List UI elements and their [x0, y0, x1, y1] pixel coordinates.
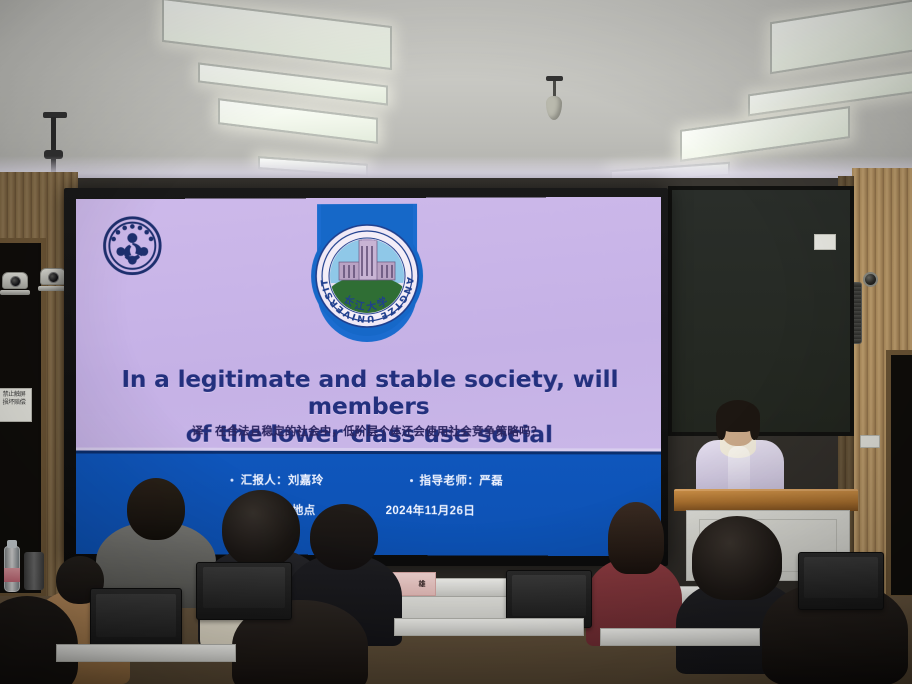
- blackboard: [668, 186, 854, 436]
- security-camera-icon: [2, 272, 30, 295]
- footer-advisor-item: 指导老师：严磊: [410, 472, 504, 488]
- footer-advisor: 指导老师：严磊: [420, 472, 504, 488]
- ceiling-light-panel: [680, 106, 850, 162]
- university-seal-icon: YANGTZE UNIVERSITY 长江大学: [287, 204, 447, 354]
- desk-row: [394, 618, 584, 636]
- slide-body: YANGTZE UNIVERSITY 长江大学 In a legi: [76, 197, 661, 452]
- ceiling-light-panel: [162, 0, 392, 70]
- motion-sensor-icon: [863, 272, 878, 287]
- blackboard-notice: [814, 234, 836, 250]
- desk-card-char2: 雄: [419, 579, 426, 589]
- wall-warning-sign: 禁止触屏 损坏赔偿: [0, 388, 32, 422]
- desktop-monitor: [798, 552, 884, 610]
- ceiling-light-panel: [218, 98, 378, 144]
- footer-presenter-item: 汇报人：刘嘉玲: [231, 472, 324, 488]
- mount-bracket: [44, 150, 63, 159]
- bottle-label: [4, 568, 20, 582]
- right-door-frame: [886, 350, 912, 600]
- slide-title-line1: In a legitimate and stable society, will…: [98, 366, 643, 421]
- thermos-cup: [24, 552, 44, 590]
- ceiling-light-panel: [770, 0, 912, 74]
- bullet-icon: [410, 479, 413, 482]
- ceiling: [0, 0, 912, 182]
- person-head: [310, 504, 378, 570]
- audience-person: [0, 596, 86, 684]
- lecture-hall-scene: 禁止触屏 损坏赔偿: [0, 0, 912, 684]
- desktop-monitor: [196, 562, 292, 620]
- bullet-icon: [231, 478, 234, 481]
- desk-row: [56, 644, 236, 662]
- presenter-person: [692, 404, 788, 500]
- slide-subtitle: 译：在合法且稳定的社会中，低阶层个体还会使用社会竞争策略吗？: [76, 423, 661, 440]
- person-head: [127, 478, 185, 540]
- audience-person: [586, 502, 682, 642]
- wall-sign-line2: 损坏赔偿: [0, 399, 30, 407]
- footer-presenter: 汇报人：刘嘉玲: [241, 472, 324, 488]
- sprinkler-stem: [553, 78, 556, 98]
- bottle-cap: [7, 540, 17, 548]
- podium-top-surface: [674, 489, 858, 511]
- sprinkler-ceiling-plate: [546, 76, 563, 81]
- light-switch-plate: [860, 435, 880, 448]
- smoke-detector-icon: [546, 96, 562, 120]
- desk-row: [600, 628, 760, 646]
- person-head: [0, 596, 78, 684]
- ceiling-light-panel: [258, 156, 368, 177]
- wall-sign-line1: 禁止触屏: [0, 391, 30, 399]
- person-head: [608, 502, 664, 574]
- desktop-monitor: [90, 588, 182, 650]
- organization-emblem-icon: [102, 215, 163, 277]
